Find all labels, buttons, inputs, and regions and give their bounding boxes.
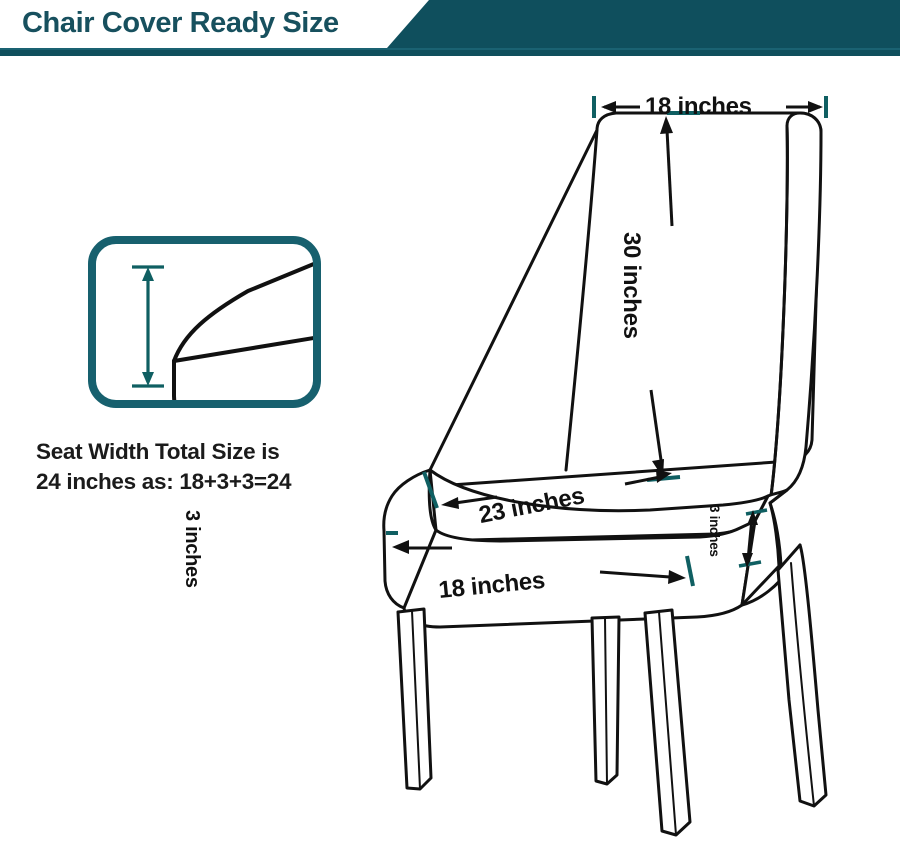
- skirt-drop-label: 3 inches: [707, 505, 722, 557]
- back-width-arrowhead-right: [808, 101, 823, 113]
- chair-size-infographic: Chair Cover Ready Size: [0, 0, 900, 845]
- chair-svg: [0, 0, 900, 845]
- back-height-label: 30 inches: [617, 232, 645, 339]
- chair-leg-front-left: [398, 609, 431, 789]
- chair-body: [384, 113, 826, 835]
- back-width-arrowhead-left: [601, 101, 616, 113]
- chair-leg-rear-right: [778, 545, 826, 806]
- chair-line-drawing: [0, 0, 900, 845]
- back-width-label: 18 inches: [645, 93, 752, 121]
